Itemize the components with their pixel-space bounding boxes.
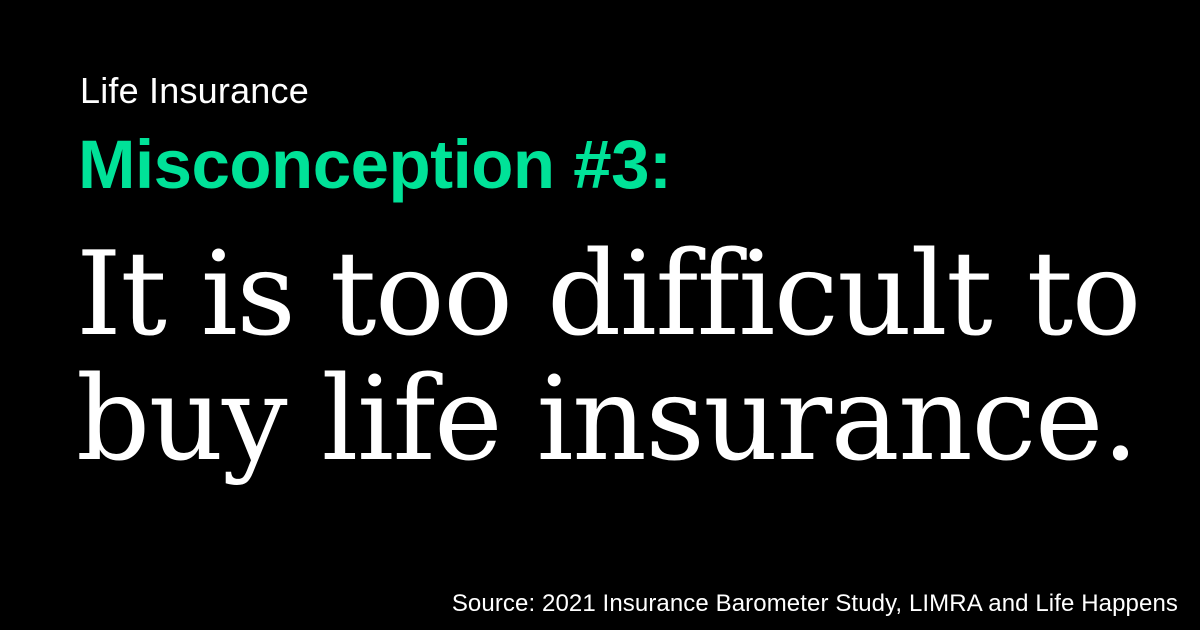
eyebrow-label: Life Insurance bbox=[80, 70, 309, 112]
statement-line-2: buy life insurance. bbox=[76, 357, 1136, 482]
statement-line-1: It is too difficult to bbox=[76, 232, 1136, 357]
misconception-card: Life Insurance Misconception #3: It is t… bbox=[0, 0, 1200, 630]
page-title: Misconception #3: bbox=[78, 128, 671, 202]
statement-block: It is too difficult to buy life insuranc… bbox=[76, 232, 1136, 482]
source-attribution: Source: 2021 Insurance Barometer Study, … bbox=[452, 590, 1178, 618]
